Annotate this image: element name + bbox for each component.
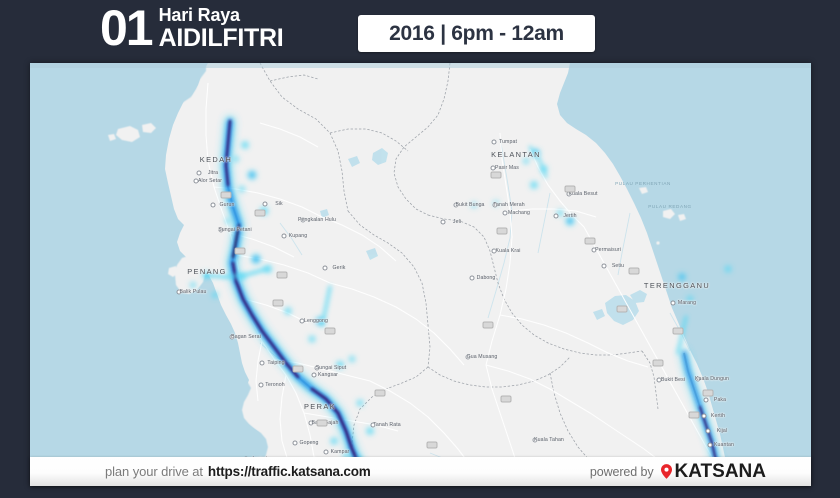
rank-number: 01 [100, 4, 152, 52]
highway-shield-icon [255, 210, 266, 217]
city-marker-dot [282, 234, 287, 239]
date-badge-label: 2016 | 6pm - 12am [389, 22, 564, 46]
header: 01 Hari Raya AIDILFITRI 2016 | 6pm - 12a… [0, 0, 840, 63]
city-marker-dot [315, 366, 320, 371]
highway-shield-icon [221, 192, 232, 199]
city-marker-dot [602, 264, 607, 269]
highway-shield-icon [277, 272, 288, 279]
highway-shield-icon [501, 396, 512, 403]
highway-shield-icon [375, 390, 386, 397]
highway-shield-icon [317, 420, 328, 427]
city-marker-dot [219, 228, 224, 233]
footer-brand: KATSANA [675, 461, 766, 483]
city-marker-dot [592, 248, 597, 253]
highway-shield-icon [617, 306, 628, 313]
city-marker-dot [533, 438, 538, 443]
city-marker-dot [259, 383, 264, 388]
title-large: AIDILFITRI [159, 25, 284, 51]
city-marker-dot [177, 290, 182, 295]
highway-shield-icon [427, 442, 438, 449]
highway-shield-icon [703, 390, 714, 397]
city-marker-dot [554, 214, 559, 219]
highway-shield-icon [491, 172, 502, 179]
city-marker-dot [466, 355, 471, 360]
highway-shield-icon [293, 366, 304, 373]
highway-shield-icon [629, 268, 640, 275]
map-svg [30, 63, 811, 486]
footer-powered-by: powered by [590, 465, 654, 479]
city-marker-dot [696, 377, 701, 382]
date-badge: 2016 | 6pm - 12am [358, 15, 595, 52]
city-marker-dot [657, 378, 662, 383]
city-marker-dot [491, 166, 496, 171]
highway-shield-icon [565, 186, 576, 193]
highway-shield-icon [235, 248, 246, 255]
city-marker-dot [211, 203, 216, 208]
infographic-page: 01 Hari Raya AIDILFITRI 2016 | 6pm - 12a… [0, 0, 840, 498]
title-small: Hari Raya [159, 6, 284, 25]
city-marker-dot [371, 423, 376, 428]
highway-shield-icon [483, 322, 494, 329]
highway-shield-icon [653, 360, 664, 367]
city-marker-dot [708, 443, 713, 448]
city-marker-dot [230, 335, 235, 340]
city-marker-dot [470, 276, 475, 281]
map-frame[interactable]: TumpatPasir MasKuala BesutTanah MerahMac… [30, 63, 811, 486]
map-canvas[interactable] [30, 63, 811, 486]
city-marker-dot [197, 171, 202, 176]
city-marker-dot [194, 179, 199, 184]
highway-shield-icon [689, 412, 700, 419]
city-marker-dot [324, 450, 329, 455]
city-marker-dot [706, 429, 711, 434]
city-marker-dot [492, 140, 497, 145]
city-marker-dot [312, 373, 317, 378]
highway-shield-icon [585, 238, 596, 245]
highway-shield-icon [273, 300, 284, 307]
city-marker-dot [704, 398, 709, 403]
highway-shield-icon [497, 228, 508, 235]
city-marker-dot [441, 220, 446, 225]
city-marker-dot [323, 266, 328, 271]
footer-url[interactable]: https://traffic.katsana.com [208, 464, 371, 479]
city-marker-dot [293, 441, 298, 446]
footer-left: plan your drive at https://traffic.katsa… [105, 457, 371, 486]
city-marker-dot [300, 319, 305, 324]
footer-bar: plan your drive at https://traffic.katsa… [30, 457, 811, 486]
city-marker-dot [263, 202, 268, 207]
highway-shield-icon [673, 328, 684, 335]
title-block: 01 Hari Raya AIDILFITRI [100, 4, 283, 52]
city-marker-dot [671, 301, 676, 306]
city-marker-dot [702, 414, 707, 419]
footer-right: powered by KATSANA [590, 457, 766, 486]
city-marker-dot [260, 361, 265, 366]
city-marker-dot [301, 218, 306, 223]
city-marker-dot [492, 249, 497, 254]
footer-plan-text: plan your drive at [105, 464, 203, 479]
highway-shield-icon [325, 328, 336, 335]
city-marker-dot [493, 203, 498, 208]
map-pin-icon [661, 464, 672, 479]
city-marker-dot [503, 211, 508, 216]
city-marker-dot [309, 421, 314, 426]
title-text: Hari Raya AIDILFITRI [159, 6, 284, 51]
city-marker-dot [454, 203, 459, 208]
